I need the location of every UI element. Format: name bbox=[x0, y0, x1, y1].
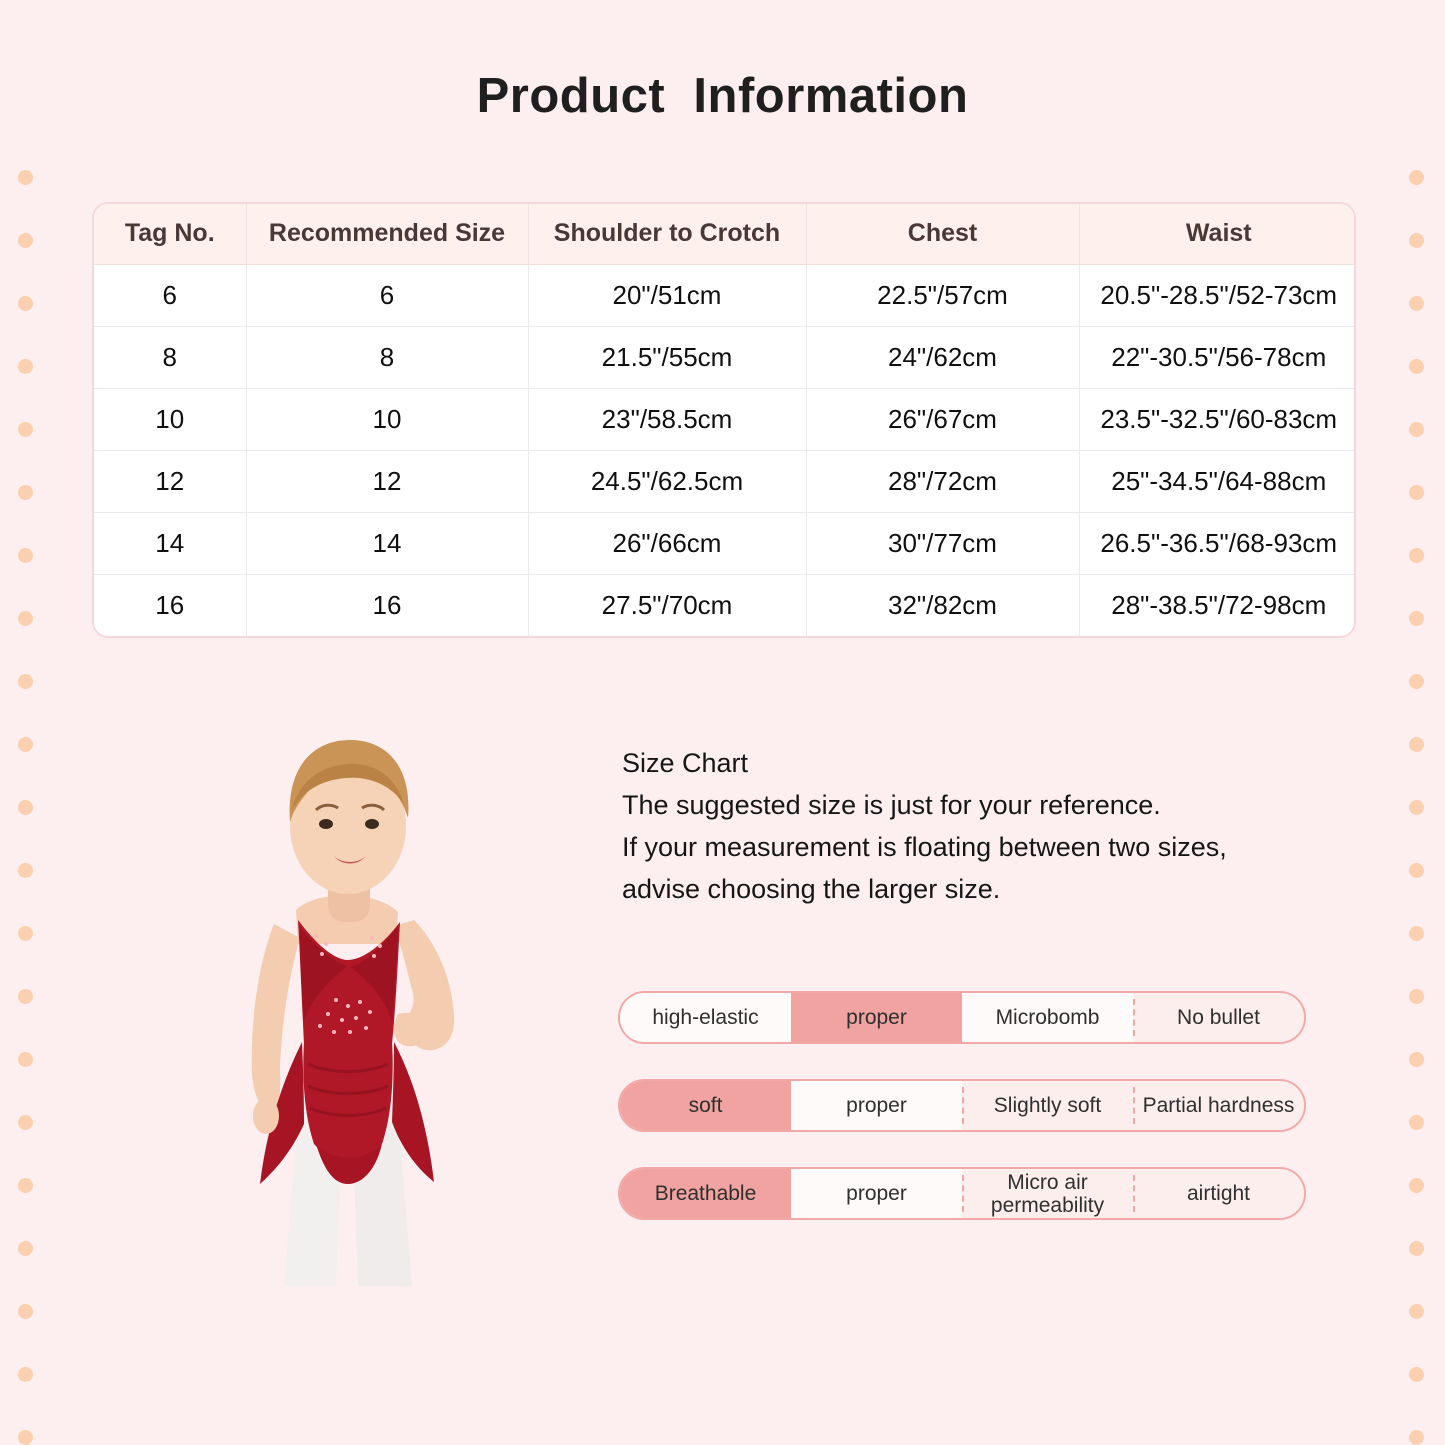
segment-high-elastic[interactable]: high-elastic bbox=[620, 993, 791, 1042]
decorative-dot bbox=[1409, 800, 1424, 815]
table-row: 14 14 26"/66cm 30"/77cm 26.5"-36.5"/68-9… bbox=[94, 512, 1356, 574]
decorative-dot bbox=[1409, 989, 1424, 1004]
decorative-dot bbox=[1409, 485, 1424, 500]
cell-waist: 20.5"-28.5"/52-73cm bbox=[1079, 264, 1356, 326]
decorative-dots-left bbox=[6, 0, 46, 1445]
decorative-dot bbox=[18, 611, 33, 626]
decorative-dot bbox=[18, 863, 33, 878]
column-header-waist: Waist bbox=[1079, 204, 1356, 264]
property-bar-softness: soft proper Slightly soft Partial hardne… bbox=[618, 1079, 1306, 1132]
cell-rec-size: 12 bbox=[246, 450, 528, 512]
cell-chest: 22.5"/57cm bbox=[806, 264, 1079, 326]
cell-chest: 28"/72cm bbox=[806, 450, 1079, 512]
table-row: 12 12 24.5"/62.5cm 28"/72cm 25"-34.5"/64… bbox=[94, 450, 1356, 512]
decorative-dot bbox=[18, 1052, 33, 1067]
decorative-dot bbox=[18, 926, 33, 941]
cell-shoulder: 20"/51cm bbox=[528, 264, 806, 326]
decorative-dot bbox=[1409, 359, 1424, 374]
segment-proper[interactable]: proper bbox=[791, 1169, 962, 1218]
decorative-dot bbox=[18, 296, 33, 311]
decorative-dot bbox=[1409, 1115, 1424, 1130]
decorative-dot bbox=[18, 737, 33, 752]
decorative-dot bbox=[1409, 1052, 1424, 1067]
cell-chest: 30"/77cm bbox=[806, 512, 1079, 574]
cell-tag-no: 6 bbox=[94, 264, 246, 326]
size-table: Tag No. Recommended Size Shoulder to Cro… bbox=[94, 204, 1356, 636]
decorative-dot bbox=[1409, 1367, 1424, 1382]
property-bar-elasticity: high-elastic proper Microbomb No bullet bbox=[618, 991, 1306, 1044]
cell-tag-no: 12 bbox=[94, 450, 246, 512]
decorative-dot bbox=[1409, 548, 1424, 563]
segment-proper[interactable]: proper bbox=[791, 993, 962, 1042]
segment-microbomb[interactable]: Microbomb bbox=[962, 993, 1133, 1042]
decorative-dot bbox=[18, 1430, 33, 1445]
cell-waist: 23.5"-32.5"/60-83cm bbox=[1079, 388, 1356, 450]
decorative-dots-right bbox=[1397, 0, 1437, 1445]
column-header-recommended-size: Recommended Size bbox=[246, 204, 528, 264]
table-row: 8 8 21.5"/55cm 24"/62cm 22"-30.5"/56-78c… bbox=[94, 326, 1356, 388]
cell-shoulder: 21.5"/55cm bbox=[528, 326, 806, 388]
cell-rec-size: 6 bbox=[246, 264, 528, 326]
decorative-dot bbox=[18, 800, 33, 815]
cell-shoulder: 27.5"/70cm bbox=[528, 574, 806, 636]
cell-chest: 32"/82cm bbox=[806, 574, 1079, 636]
table-row: 16 16 27.5"/70cm 32"/82cm 28"-38.5"/72-9… bbox=[94, 574, 1356, 636]
product-photo-illustration bbox=[176, 714, 521, 1286]
cell-waist: 25"-34.5"/64-88cm bbox=[1079, 450, 1356, 512]
decorative-dot bbox=[1409, 233, 1424, 248]
segment-breathable[interactable]: Breathable bbox=[620, 1169, 791, 1218]
size-chart-note: Size Chart The suggested size is just fo… bbox=[622, 742, 1322, 910]
cell-rec-size: 8 bbox=[246, 326, 528, 388]
decorative-dot bbox=[18, 1241, 33, 1256]
decorative-dot bbox=[18, 170, 33, 185]
decorative-dot bbox=[1409, 611, 1424, 626]
cell-rec-size: 16 bbox=[246, 574, 528, 636]
cell-shoulder: 24.5"/62.5cm bbox=[528, 450, 806, 512]
cell-rec-size: 10 bbox=[246, 388, 528, 450]
cell-waist: 22"-30.5"/56-78cm bbox=[1079, 326, 1356, 388]
cell-shoulder: 26"/66cm bbox=[528, 512, 806, 574]
decorative-dot bbox=[18, 422, 33, 437]
table-row: 10 10 23"/58.5cm 26"/67cm 23.5"-32.5"/60… bbox=[94, 388, 1356, 450]
note-line-2: If your measurement is floating between … bbox=[622, 826, 1322, 868]
table-header-row: Tag No. Recommended Size Shoulder to Cro… bbox=[94, 204, 1356, 264]
cell-waist: 28"-38.5"/72-98cm bbox=[1079, 574, 1356, 636]
column-header-chest: Chest bbox=[806, 204, 1079, 264]
cell-rec-size: 14 bbox=[246, 512, 528, 574]
decorative-dot bbox=[18, 1115, 33, 1130]
decorative-dot bbox=[1409, 422, 1424, 437]
cell-shoulder: 23"/58.5cm bbox=[528, 388, 806, 450]
cell-tag-no: 8 bbox=[94, 326, 246, 388]
column-header-shoulder-to-crotch: Shoulder to Crotch bbox=[528, 204, 806, 264]
cell-chest: 24"/62cm bbox=[806, 326, 1079, 388]
decorative-dot bbox=[1409, 926, 1424, 941]
decorative-dot bbox=[1409, 674, 1424, 689]
decorative-dot bbox=[18, 485, 33, 500]
decorative-dot bbox=[1409, 863, 1424, 878]
page-title: Product Information bbox=[0, 68, 1445, 124]
cell-tag-no: 14 bbox=[94, 512, 246, 574]
decorative-dot bbox=[1409, 1430, 1424, 1445]
segment-slightly-soft[interactable]: Slightly soft bbox=[962, 1081, 1133, 1130]
decorative-dot bbox=[18, 1304, 33, 1319]
cell-waist: 26.5"-36.5"/68-93cm bbox=[1079, 512, 1356, 574]
decorative-dot bbox=[18, 233, 33, 248]
cell-tag-no: 10 bbox=[94, 388, 246, 450]
segment-airtight[interactable]: airtight bbox=[1133, 1169, 1304, 1218]
decorative-dot bbox=[1409, 737, 1424, 752]
decorative-dot bbox=[18, 674, 33, 689]
product-photo bbox=[176, 714, 521, 1286]
column-header-tag-no: Tag No. bbox=[94, 204, 246, 264]
segment-proper[interactable]: proper bbox=[791, 1081, 962, 1130]
decorative-dot bbox=[1409, 1304, 1424, 1319]
table-row: 6 6 20"/51cm 22.5"/57cm 20.5"-28.5"/52-7… bbox=[94, 264, 1356, 326]
decorative-dot bbox=[1409, 296, 1424, 311]
cell-tag-no: 16 bbox=[94, 574, 246, 636]
decorative-dot bbox=[18, 359, 33, 374]
size-table-container: Tag No. Recommended Size Shoulder to Cro… bbox=[92, 202, 1356, 638]
decorative-dot bbox=[18, 548, 33, 563]
decorative-dot bbox=[18, 989, 33, 1004]
segment-partial-hardness[interactable]: Partial hardness bbox=[1133, 1081, 1304, 1130]
decorative-dot bbox=[18, 1178, 33, 1193]
segment-soft[interactable]: soft bbox=[620, 1081, 791, 1130]
cell-chest: 26"/67cm bbox=[806, 388, 1079, 450]
note-line-3: advise choosing the larger size. bbox=[622, 868, 1322, 910]
property-bars: high-elastic proper Microbomb No bullet … bbox=[618, 991, 1306, 1255]
segment-no-bullet[interactable]: No bullet bbox=[1133, 993, 1304, 1042]
decorative-dot bbox=[1409, 1178, 1424, 1193]
decorative-dot bbox=[1409, 1241, 1424, 1256]
segment-micro-air-permeability[interactable]: Micro air permeability bbox=[962, 1169, 1133, 1218]
decorative-dot bbox=[18, 1367, 33, 1382]
property-bar-breathability: Breathable proper Micro air permeability… bbox=[618, 1167, 1306, 1220]
decorative-dot bbox=[1409, 170, 1424, 185]
note-line-1: The suggested size is just for your refe… bbox=[622, 784, 1322, 826]
note-heading: Size Chart bbox=[622, 742, 1322, 784]
